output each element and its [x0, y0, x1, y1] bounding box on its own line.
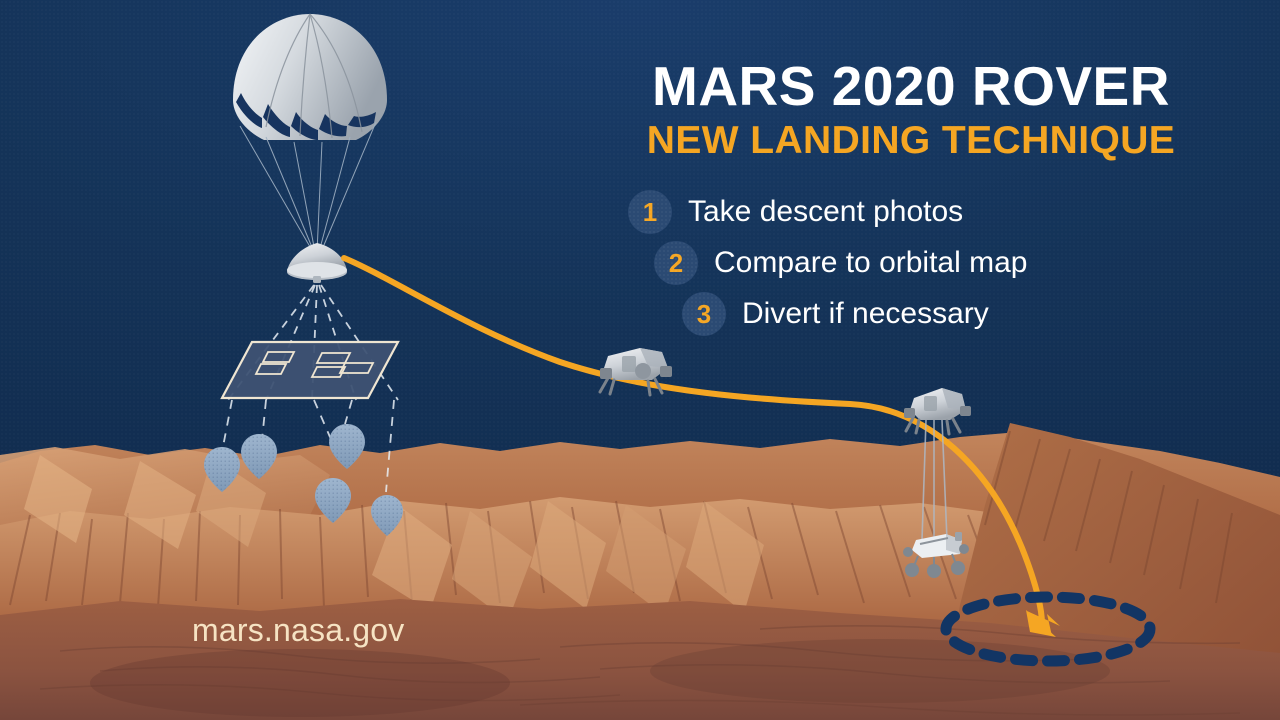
orbital-map-plane [222, 342, 398, 398]
page-subtitle: NEW LANDING TECHNIQUE [596, 120, 1226, 163]
mars-rover-on-tethers [903, 532, 969, 578]
map-pin [241, 434, 277, 479]
map-pin [204, 447, 240, 492]
title-block: MARS 2020 ROVER NEW LANDING TECHNIQUE [596, 58, 1226, 163]
step-number-badge: 3 [682, 292, 726, 336]
parachute-icon [233, 14, 387, 283]
infographic-canvas: MARS 2020 ROVER NEW LANDING TECHNIQUE 1 … [0, 0, 1280, 720]
map-pin [315, 478, 351, 523]
step-label: Compare to orbital map [714, 246, 1027, 280]
backshell-capsule [287, 243, 347, 283]
step-item-2: 2 Compare to orbital map [596, 241, 1156, 285]
page-title: MARS 2020 ROVER [596, 58, 1226, 114]
step-number-badge: 1 [628, 190, 672, 234]
descent-stage-skycrane [904, 388, 971, 540]
step-label: Divert if necessary [742, 297, 989, 331]
site-url: mars.nasa.gov [192, 612, 404, 649]
terrain-map-pins [204, 424, 403, 536]
steps-list: 1 Take descent photos 2 Compare to orbit… [596, 190, 1156, 343]
skycrane-tethers [922, 420, 947, 540]
parachute-suspension-lines [240, 122, 376, 252]
map-pin [329, 424, 365, 469]
map-plane-surface [222, 342, 398, 398]
step-item-1: 1 Take descent photos [596, 190, 1156, 234]
map-pin [371, 495, 403, 536]
step-number-badge: 2 [654, 241, 698, 285]
step-label: Take descent photos [688, 195, 963, 229]
step-item-3: 3 Divert if necessary [596, 292, 1156, 336]
